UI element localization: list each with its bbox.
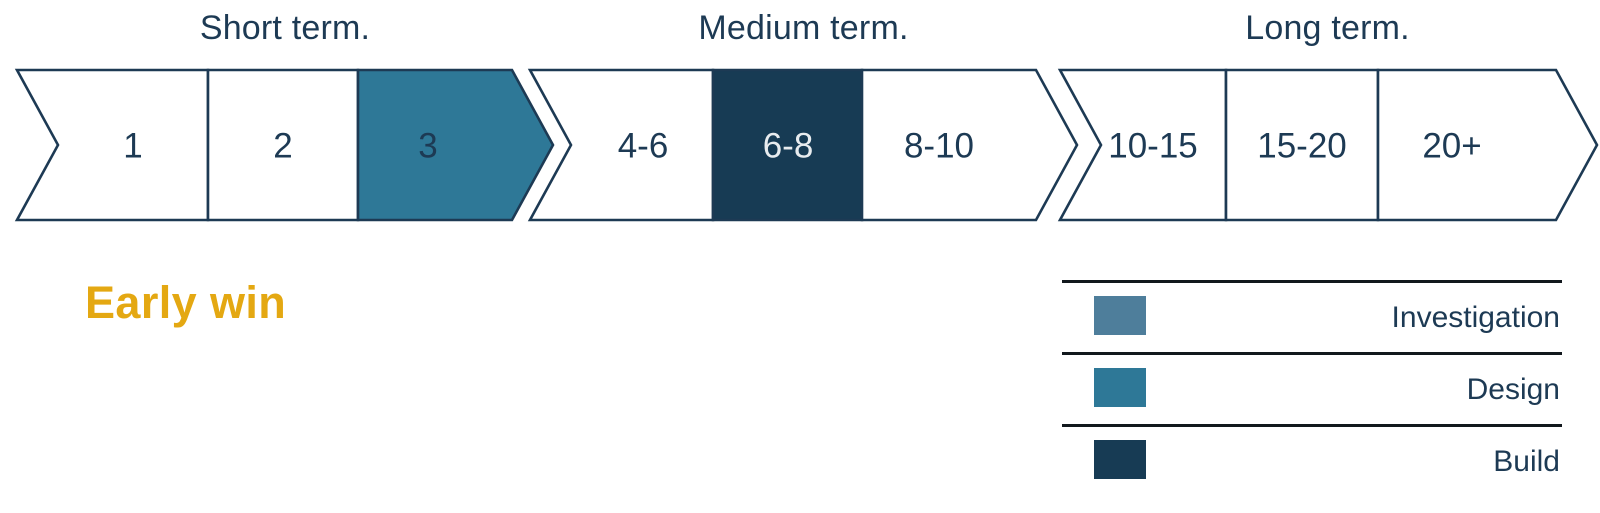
timeline-chevrons: 1 2 3 4-6 6-8 xyxy=(0,0,1600,245)
timeline-cell-20-plus-label: 20+ xyxy=(1422,126,1481,165)
legend-row-design[interactable]: Design xyxy=(1062,352,1562,424)
timeline-cell-8-10-label: 8-10 xyxy=(904,126,974,165)
chevron-group-medium-term: 4-6 6-8 8-10 xyxy=(530,70,1077,220)
timeline-cell-20-plus-shape xyxy=(1378,70,1597,220)
timeline-cell-15-20[interactable]: 15-20 xyxy=(1226,70,1378,220)
timeline-cell-4-6-label: 4-6 xyxy=(618,126,669,165)
timeline-cell-6-8[interactable]: 6-8 xyxy=(713,70,862,220)
timeline-cell-10-15[interactable]: 10-15 xyxy=(1060,70,1226,220)
legend-swatch-design xyxy=(1094,368,1146,407)
chevron-group-short-term: 1 2 3 xyxy=(17,70,553,220)
legend-swatch-build xyxy=(1094,440,1146,479)
roadmap-timeline-graphic: Short term. Medium term. Long term. 1 2 … xyxy=(0,0,1600,513)
timeline-cell-1-label: 1 xyxy=(123,126,142,165)
timeline-cell-4-6[interactable]: 4-6 xyxy=(530,70,713,220)
timeline-cell-8-10[interactable]: 8-10 xyxy=(862,70,1077,220)
legend: Investigation Design Build xyxy=(1062,280,1562,496)
timeline-cell-3-shape xyxy=(358,70,553,220)
timeline-cell-3[interactable]: 3 xyxy=(358,70,553,220)
timeline-cell-10-15-label: 10-15 xyxy=(1108,126,1198,165)
timeline-cell-6-8-label: 6-8 xyxy=(763,126,814,165)
legend-row-investigation[interactable]: Investigation xyxy=(1062,280,1562,352)
timeline-cell-3-label: 3 xyxy=(418,126,437,165)
chevron-group-long-term: 10-15 15-20 20+ xyxy=(1060,70,1597,220)
timeline-cell-2[interactable]: 2 xyxy=(208,70,358,220)
timeline-cell-1-shape xyxy=(17,70,208,220)
early-win-callout: Early win xyxy=(85,277,286,329)
legend-row-build[interactable]: Build xyxy=(1062,424,1562,496)
timeline-cell-1[interactable]: 1 xyxy=(17,70,208,220)
timeline-cell-2-label: 2 xyxy=(273,126,292,165)
timeline-cell-20-plus[interactable]: 20+ xyxy=(1378,70,1597,220)
timeline-cell-15-20-label: 15-20 xyxy=(1257,126,1347,165)
legend-swatch-investigation xyxy=(1094,296,1146,335)
